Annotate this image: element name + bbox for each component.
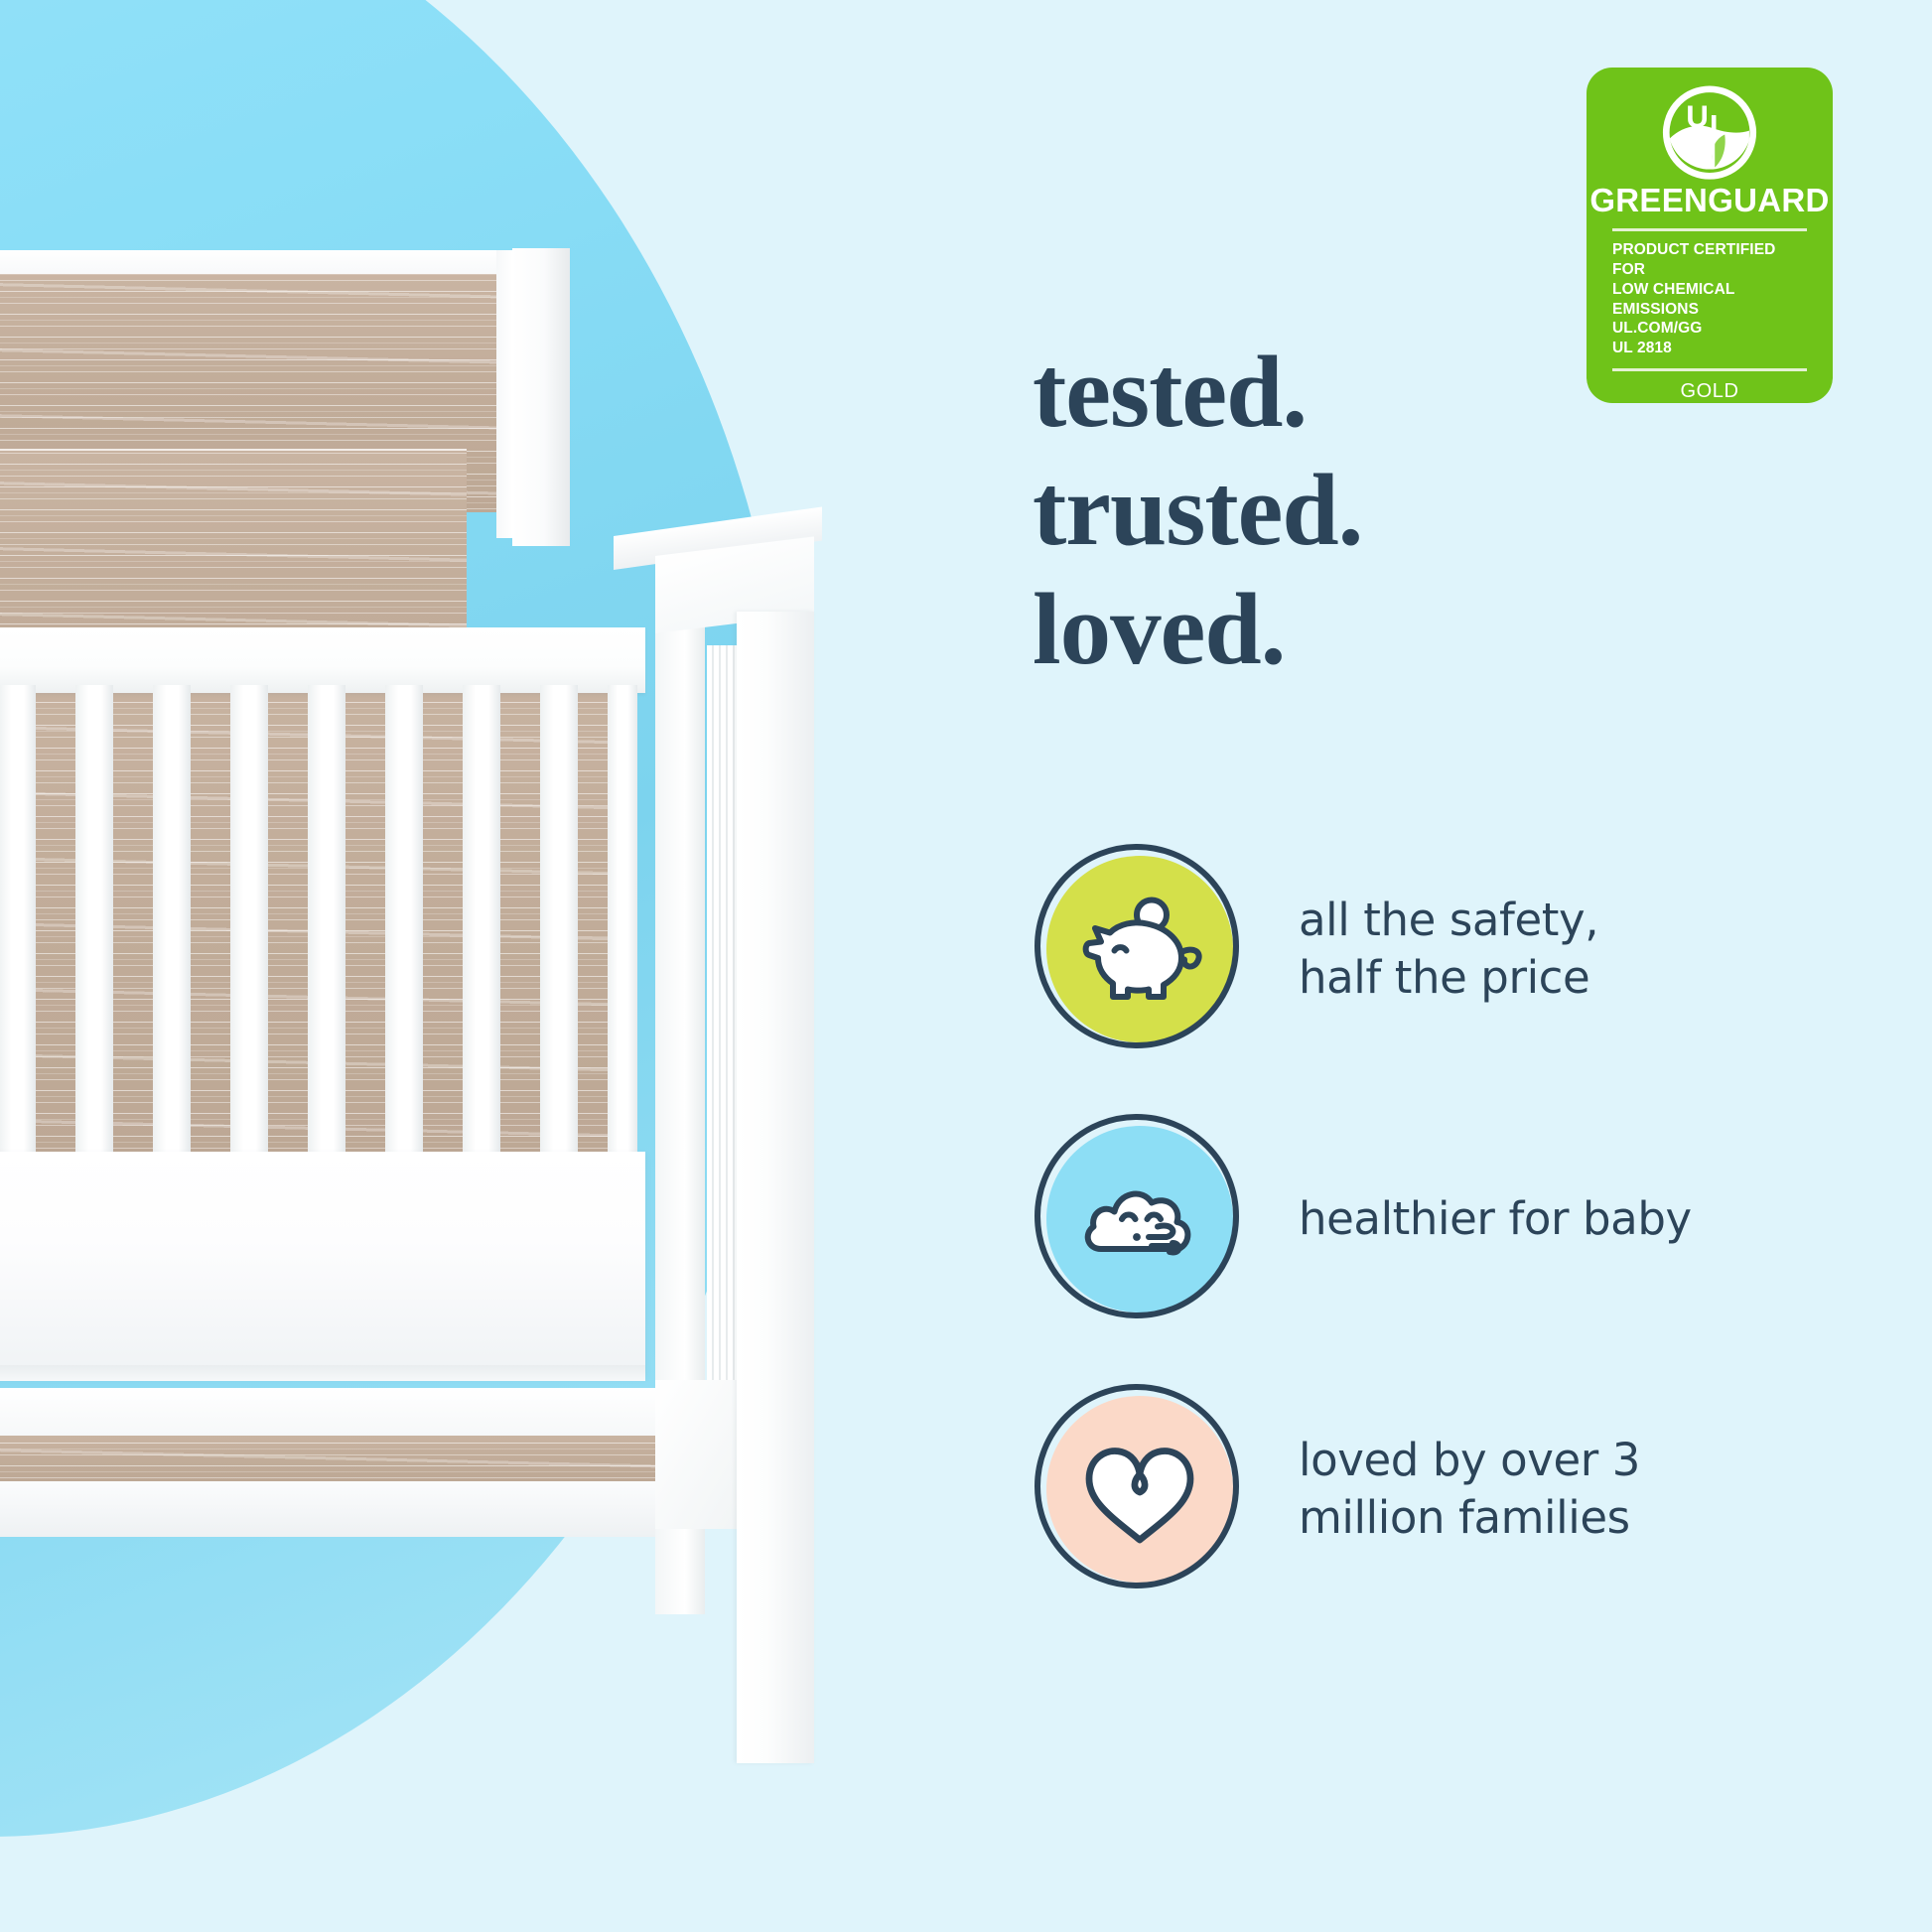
- crib-slat: [0, 685, 36, 1181]
- benefit-text-line: loved by over 3: [1299, 1432, 1640, 1489]
- badge-brand-name: GREENGUARD: [1589, 184, 1829, 216]
- marketing-image: U L GREENGUARD PRODUCT CERTIFIED FOR LOW…: [0, 0, 1932, 1932]
- benefit-text-line: all the safety,: [1299, 892, 1598, 949]
- benefit-text-line: million families: [1299, 1489, 1640, 1547]
- crib-lower-rail-lower: [0, 1481, 705, 1537]
- crib-side-bottom-rail: [655, 1380, 745, 1529]
- headline-line-2: trusted.: [1033, 452, 1668, 570]
- benefit-label-healthier: healthier for baby: [1299, 1190, 1692, 1248]
- crib-slat: [385, 685, 423, 1181]
- headline: tested. trusted. loved.: [1033, 334, 1668, 689]
- benefit-icon-wrap: [1033, 1112, 1247, 1326]
- crib-lower-wood-band: [0, 1436, 705, 1481]
- crib-slat: [153, 685, 191, 1181]
- crib-headboard-corner-post: [512, 248, 570, 546]
- benefit-label-loved: loved by over 3 million families: [1299, 1432, 1640, 1546]
- benefit-item-savings: all the safety, half the price: [1033, 814, 1886, 1084]
- crib-side-slats: [707, 645, 741, 1380]
- crib-front-corner-post: [737, 612, 814, 1763]
- crib-slat: [308, 685, 345, 1181]
- headline-line-3: loved.: [1033, 571, 1668, 689]
- crib-slat: [75, 685, 113, 1181]
- benefit-item-healthier: healthier for baby: [1033, 1084, 1886, 1354]
- benefits-list: all the safety, half the price: [1033, 814, 1886, 1624]
- badge-line: LOW CHEMICAL EMISSIONS: [1612, 280, 1807, 320]
- crib-slat: [608, 685, 637, 1181]
- crib-lower-rail-upper: [0, 1388, 705, 1436]
- benefit-text-line: half the price: [1299, 949, 1598, 1007]
- product-photo-crib: [0, 0, 874, 1787]
- badge-level-label: GOLD: [1680, 380, 1738, 403]
- crib-mattress: [0, 1152, 645, 1375]
- blowing-cloud-icon: [1065, 1145, 1214, 1294]
- crib-front-top-rail: [0, 627, 645, 693]
- benefit-text-line: healthier for baby: [1299, 1190, 1692, 1248]
- badge-line: PRODUCT CERTIFIED FOR: [1612, 240, 1807, 280]
- svg-text:U: U: [1686, 99, 1709, 134]
- ul-leaf-icon: U L: [1662, 85, 1757, 180]
- piggy-bank-icon: [1065, 875, 1214, 1024]
- crib-slat: [230, 685, 268, 1181]
- crib-slat: [540, 685, 578, 1181]
- headline-line-1: tested.: [1033, 334, 1668, 452]
- benefit-label-savings: all the safety, half the price: [1299, 892, 1598, 1006]
- crib-slat: [463, 685, 500, 1181]
- svg-text:L: L: [1710, 108, 1728, 143]
- heart-icon: [1065, 1415, 1214, 1564]
- crib-mattress-edge: [0, 1365, 645, 1381]
- benefit-item-loved: loved by over 3 million families: [1033, 1354, 1886, 1624]
- badge-divider-top: [1612, 228, 1807, 231]
- benefit-icon-wrap: [1033, 1382, 1247, 1596]
- benefit-icon-wrap: [1033, 842, 1247, 1056]
